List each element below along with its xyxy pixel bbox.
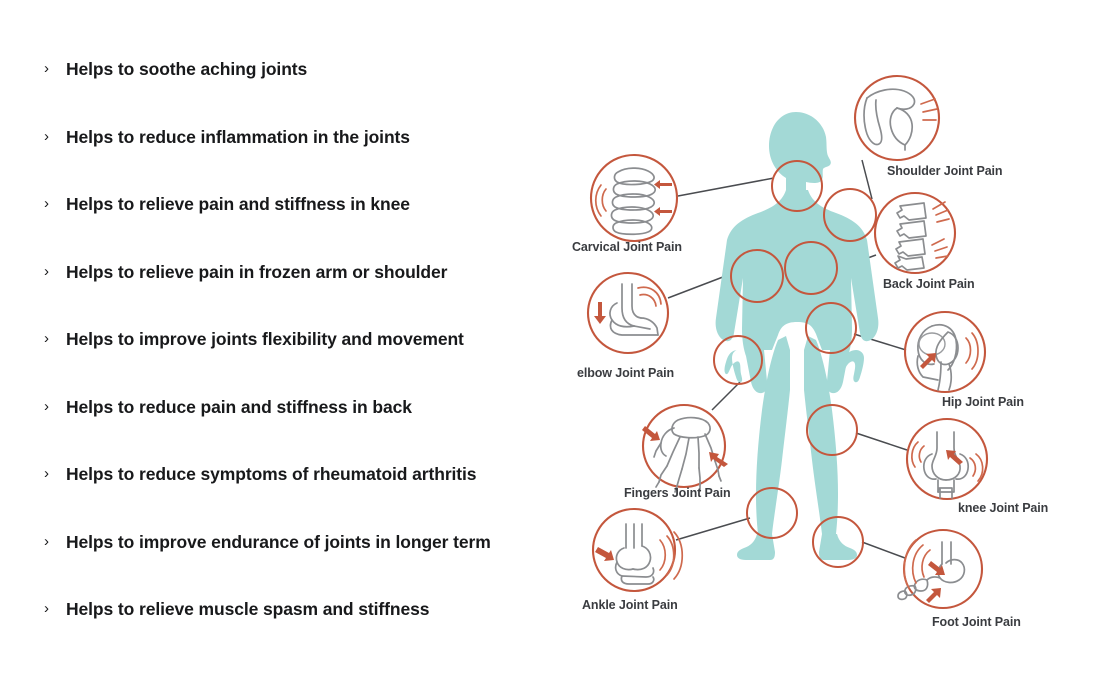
callout-label-foot: Foot Joint Pain [932, 615, 1021, 629]
chevron-right-icon: › [40, 193, 66, 215]
benefit-item: › Helps to improve joints flexibility an… [40, 328, 570, 396]
benefit-item: › Helps to improve endurance of joints i… [40, 531, 570, 599]
connector-foot [862, 542, 905, 558]
callout-label-fingers: Fingers Joint Pain [624, 486, 731, 500]
callout-ring-hip [905, 312, 985, 392]
callout-carvical [591, 155, 677, 241]
benefits-list: › Helps to soothe aching joints › Helps … [40, 58, 570, 666]
chevron-right-icon: › [40, 531, 66, 553]
callout-label-ankle: Ankle Joint Pain [582, 598, 678, 612]
connector-knee [856, 433, 907, 450]
benefit-item: › Helps to reduce inflammation in the jo… [40, 126, 570, 194]
benefit-item: › Helps to soothe aching joints [40, 58, 570, 126]
callout-ring-back [875, 193, 955, 273]
benefit-text: Helps to relieve pain in frozen arm or s… [66, 261, 447, 283]
spine-vertebrae-icon [895, 202, 949, 270]
chevron-right-icon: › [40, 261, 66, 283]
cervical-spine-icon [596, 168, 672, 234]
knee-joint-icon [912, 432, 983, 498]
callout-label-elbow: elbow Joint Pain [577, 366, 674, 380]
callout-label-carvical: Carvical Joint Pain [572, 240, 682, 254]
callout-foot [898, 530, 982, 608]
callout-fingers [642, 405, 728, 492]
connector-fingers [712, 382, 740, 410]
benefit-text: Helps to reduce inflammation in the join… [66, 126, 410, 148]
callout-label-back: Back Joint Pain [883, 277, 975, 291]
benefit-item: › Helps to relieve pain in frozen arm or… [40, 261, 570, 329]
benefit-item: › Helps to relieve pain and stiffness in… [40, 193, 570, 261]
infographic-root: › Helps to soothe aching joints › Helps … [0, 0, 1107, 700]
callout-label-hip: Hip Joint Pain [942, 395, 1024, 409]
benefit-text: Helps to relieve muscle spasm and stiffn… [66, 598, 429, 620]
ankle-joint-icon [595, 524, 682, 584]
benefit-item: › Helps to reduce symptoms of rheumatoid… [40, 463, 570, 531]
chevron-right-icon: › [40, 463, 66, 485]
benefit-text: Helps to reduce symptoms of rheumatoid a… [66, 463, 476, 485]
benefit-text: Helps to improve endurance of joints in … [66, 531, 491, 553]
chevron-right-icon: › [40, 396, 66, 418]
connector-carvical [678, 178, 774, 196]
diagram-svg: .bone { fill:none; stroke:#8b8d90; strok… [560, 50, 1107, 650]
callout-hip [905, 312, 985, 392]
callout-back [875, 193, 955, 273]
foot-bones-icon [898, 540, 964, 603]
callout-elbow [588, 273, 668, 353]
shoulder-joint-icon [864, 89, 937, 150]
benefit-text: Helps to improve joints flexibility and … [66, 328, 464, 350]
callout-ring-fingers [643, 405, 725, 487]
joint-pain-diagram: .bone { fill:none; stroke:#8b8d90; strok… [560, 50, 1107, 650]
callout-ankle [593, 509, 682, 591]
callout-label-shoulder: Shoulder Joint Pain [887, 164, 1002, 178]
elbow-joint-icon [594, 284, 661, 335]
chevron-right-icon: › [40, 58, 66, 80]
callout-ring-ankle [593, 509, 675, 591]
chevron-right-icon: › [40, 598, 66, 620]
benefit-item: › Helps to reduce pain and stiffness in … [40, 396, 570, 464]
benefit-text: Helps to soothe aching joints [66, 58, 307, 80]
benefit-text: Helps to reduce pain and stiffness in ba… [66, 396, 412, 418]
callout-label-knee: knee Joint Pain [958, 501, 1048, 515]
callout-knee [907, 419, 987, 499]
callout-shoulder [855, 76, 939, 160]
benefit-item: › Helps to relieve muscle spasm and stif… [40, 598, 570, 666]
benefit-text: Helps to relieve pain and stiffness in k… [66, 193, 410, 215]
chevron-right-icon: › [40, 328, 66, 350]
connector-ankle [676, 518, 750, 540]
chevron-right-icon: › [40, 126, 66, 148]
hip-joint-icon [917, 325, 978, 390]
hand-bones-icon [642, 418, 728, 492]
